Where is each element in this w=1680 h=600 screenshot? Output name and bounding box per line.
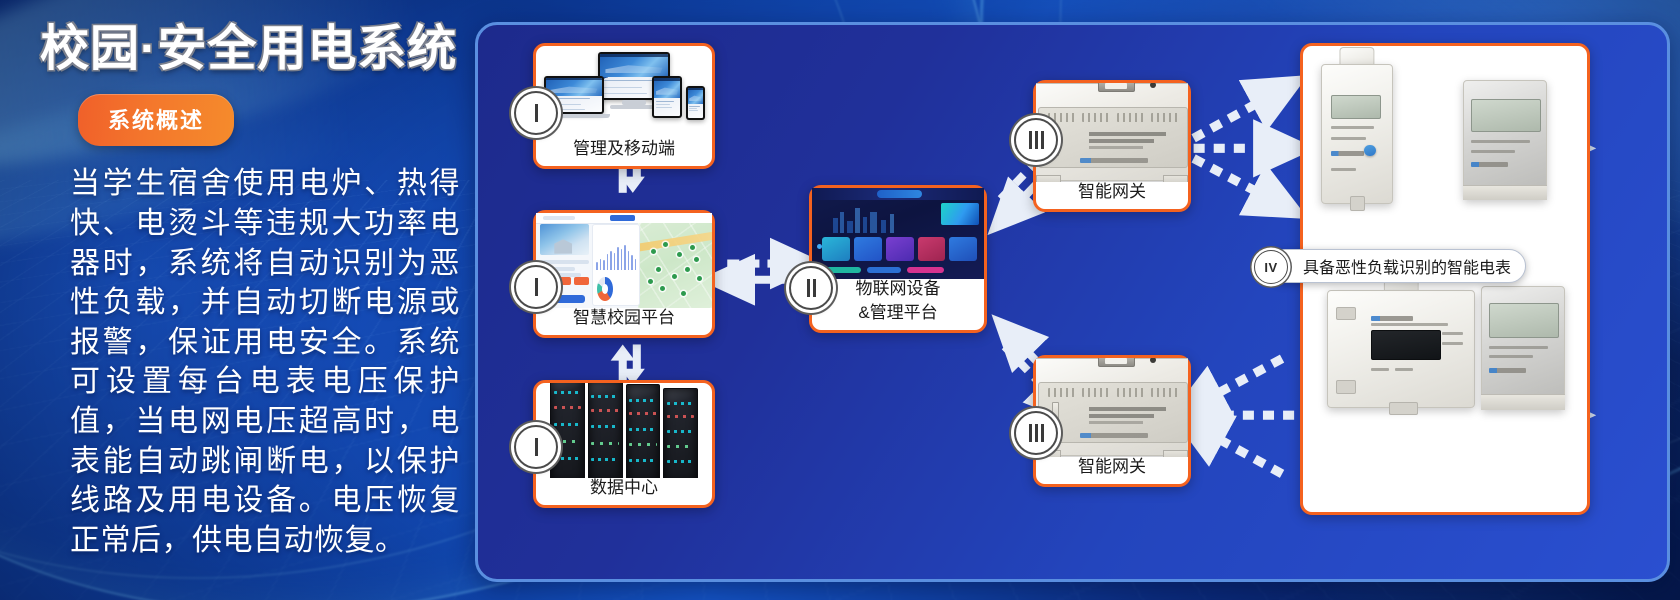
section-pill-system-overview: 系统概述 (78, 94, 234, 146)
smart-campus-artwork (536, 213, 712, 308)
iot-dashboard-screen (812, 188, 984, 279)
badge-roman-ii-iot (789, 266, 833, 310)
callout-malicious-load-meter: 具备恶性负载识别的智能电表 (1268, 249, 1526, 283)
monitor-stand-base (610, 105, 658, 109)
usb-port-icon (1098, 83, 1134, 92)
gateway-bottom-artwork (1036, 358, 1188, 457)
three-phase-meter-1 (1463, 80, 1547, 200)
node-caption: 智能网关 (1036, 182, 1188, 209)
node-admin-mobile[interactable]: 管理及移动端 (533, 43, 715, 169)
tablet-icon (652, 76, 682, 118)
smart-gateway-device-icon (1036, 358, 1188, 456)
campus-dashboard-screen (536, 213, 712, 308)
badge-roman-iii-gateway-bottom (1014, 411, 1058, 455)
admin-mobile-artwork (536, 46, 712, 139)
badge-roman-iv: IV (1254, 250, 1288, 284)
node-caption-line1: 物联网设备 (812, 279, 984, 303)
node-data-center[interactable]: 数据中心 (533, 380, 715, 508)
node-iot-platform[interactable]: 物联网设备 &管理平台 (809, 185, 987, 333)
badge-roman-i-admin (514, 91, 558, 135)
three-phase-meter-2 (1481, 286, 1565, 410)
arrow-campus-to-iot (727, 264, 797, 280)
arrow-meters-to-gateway-bottom (1194, 359, 1295, 474)
iot-platform-artwork (812, 188, 984, 279)
badge-roman-i-campus (514, 265, 558, 309)
node-caption-line2: &管理平台 (812, 303, 984, 330)
smart-gateway-device-icon (1036, 83, 1188, 181)
node-caption: 智慧校园平台 (536, 308, 712, 335)
node-gateway-bottom[interactable]: 智能网关 (1033, 355, 1191, 487)
badge-roman-iii-gateway-top (1014, 118, 1058, 162)
node-caption: 管理及移动端 (536, 139, 712, 166)
arrow-campus-to-datacenter (611, 344, 645, 384)
gateway-top-artwork (1036, 83, 1188, 182)
poster-stage: 校园·安全用电系统 系统概述 当学生宿舍使用电炉、热得快、电烫斗等违规大功率电器… (0, 0, 1680, 600)
single-phase-meter-1 (1321, 64, 1393, 204)
overview-paragraph: 当学生宿舍使用电炉、热得快、电烫斗等违规大功率电器时，系统将自动识别为恶性负载，… (70, 164, 460, 560)
architecture-diagram-panel: 管理及移动端 (475, 22, 1670, 582)
campus-map (638, 223, 712, 308)
arrow-gateway-top-to-meters (1194, 92, 1282, 203)
phone-icon (686, 86, 705, 120)
left-text-column: 校园·安全用电系统 系统概述 当学生宿舍使用电炉、热得快、电烫斗等违规大功率电器… (28, 8, 460, 592)
din-rail-meter-1 (1327, 290, 1475, 408)
node-smart-campus[interactable]: 智慧校园平台 (533, 210, 715, 338)
page-title: 校园·安全用电系统 (40, 24, 460, 75)
callout-label: 具备恶性负载识别的智能电表 (1303, 254, 1511, 278)
data-center-artwork (536, 383, 712, 478)
node-caption: 智能网关 (1036, 457, 1188, 484)
node-caption: 数据中心 (536, 478, 712, 505)
badge-roman-i-datacenter (514, 425, 558, 469)
usb-port-icon (1098, 358, 1134, 367)
server-rack-icon (550, 383, 698, 478)
